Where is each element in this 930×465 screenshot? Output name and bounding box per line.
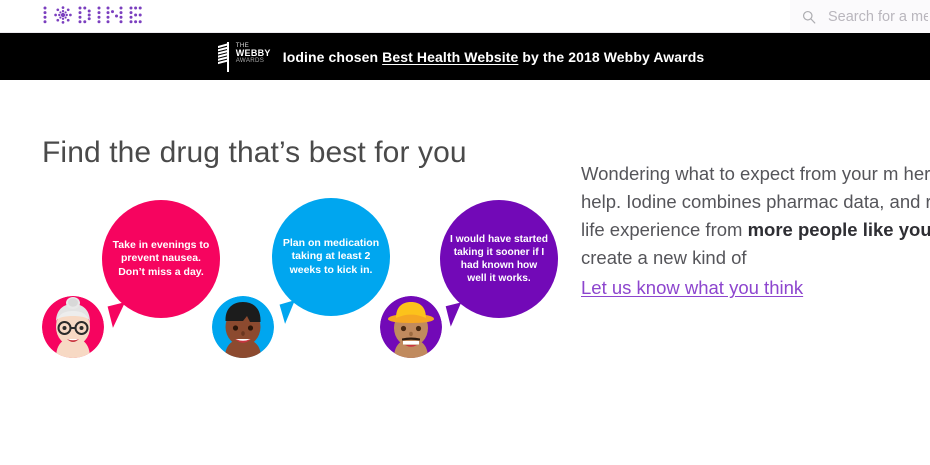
- page-root: THE WEBBY AWARDS Iodine chosen Best Heal…: [0, 0, 930, 465]
- man-avatar: [212, 296, 274, 358]
- top-navigation-bar: [0, 0, 930, 33]
- man-with-hat-avatar: [380, 296, 442, 358]
- search-input[interactable]: [826, 8, 930, 26]
- copy-line-1: Wondering what to expect from your m: [581, 163, 898, 184]
- banner-content: THE WEBBY AWARDS Iodine chosen Best Heal…: [216, 42, 705, 72]
- webby-logo-words: THE WEBBY AWARDS: [236, 42, 271, 65]
- elderly-woman-avatar: [42, 296, 104, 358]
- main-content: Find the drug that’s best for you Take i…: [0, 80, 930, 465]
- testimonial-bubble-blue: Plan on medication taking at least 2 wee…: [272, 198, 390, 316]
- best-health-website-link[interactable]: Best Health Website: [382, 49, 518, 65]
- webby-award-banner[interactable]: THE WEBBY AWARDS Iodine chosen Best Heal…: [0, 33, 930, 80]
- testimonial-bubble-purple: I would have started taking it sooner if…: [440, 200, 558, 318]
- intro-paragraph: Wondering what to expect from your m her…: [581, 160, 930, 302]
- webby-logo-line-awards: AWARDS: [236, 58, 271, 64]
- webby-awards-logo: THE WEBBY AWARDS: [216, 42, 271, 72]
- search-box[interactable]: [790, 0, 930, 33]
- testimonial-text-pink: Take in evenings to prevent nausea. Don’…: [102, 239, 220, 280]
- testimonial-text-purple: I would have started taking it sooner if…: [440, 233, 558, 285]
- testimonial-text-blue: Plan on medication taking at least 2 wee…: [272, 237, 390, 278]
- search-icon: [802, 10, 816, 24]
- iodine-logo[interactable]: [42, 4, 160, 28]
- testimonial-bubbles-group: Take in evenings to prevent nausea. Don’…: [0, 80, 570, 380]
- banner-text-after: by the 2018 Webby Awards: [518, 49, 704, 65]
- copy-bold-2: people like you: [798, 219, 930, 240]
- copy-bold-1: more: [748, 219, 793, 240]
- banner-message: Iodine chosen Best Health Website by the…: [283, 49, 705, 65]
- banner-text-before: Iodine chosen: [283, 49, 382, 65]
- testimonial-bubble-pink: Take in evenings to prevent nausea. Don’…: [102, 200, 220, 318]
- feedback-link[interactable]: Let us know what you think: [581, 274, 803, 302]
